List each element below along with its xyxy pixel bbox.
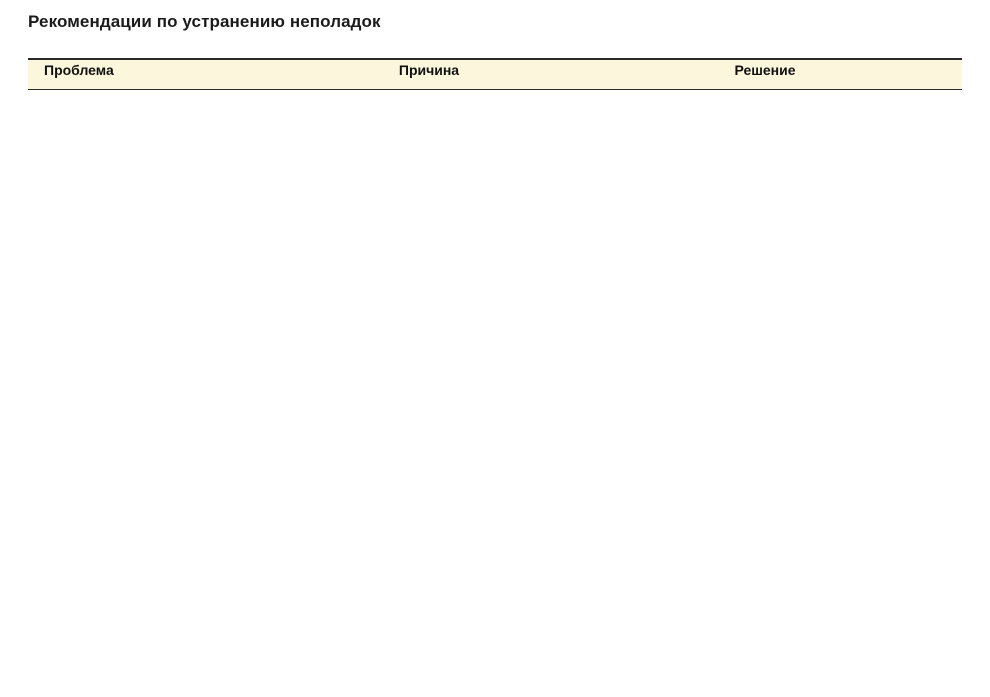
- troubleshooting-page: Рекомендации по устранению неполадок Про…: [0, 0, 990, 697]
- troubleshooting-table: Проблема Причина Решение: [28, 58, 962, 90]
- table-header-row: Проблема Причина Решение: [28, 59, 962, 90]
- column-header-cause: Причина: [290, 59, 568, 90]
- page-title: Рекомендации по устранению неполадок: [28, 12, 381, 32]
- column-header-problem: Проблема: [28, 59, 290, 90]
- column-header-solution: Решение: [568, 59, 962, 90]
